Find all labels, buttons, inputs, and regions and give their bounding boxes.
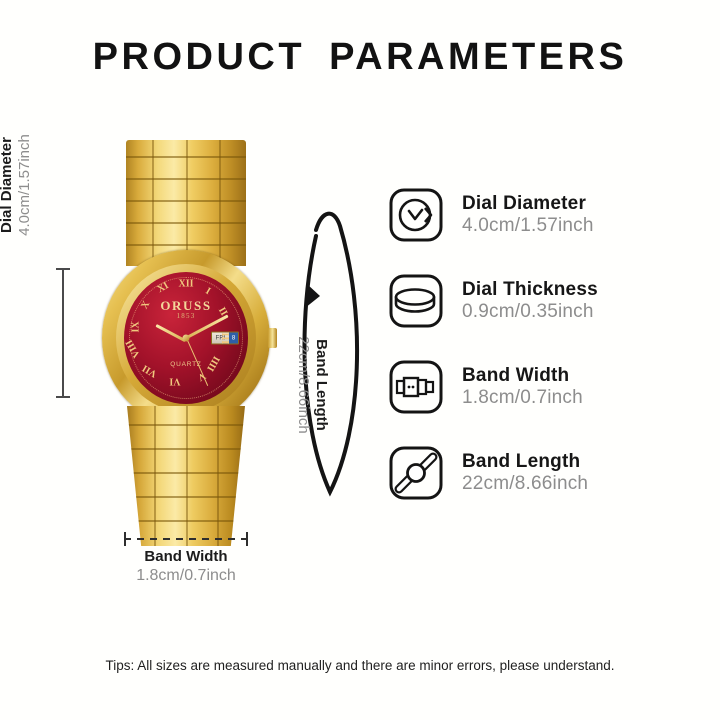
dial-diameter-dimension-value: 4.0cm/1.57inch (16, 110, 34, 260)
spec-value-band-width: 1.8cm/0.7inch (462, 387, 583, 409)
watch-crown (268, 328, 277, 348)
second-hand (186, 338, 208, 386)
dial-numeral: VIII (124, 338, 143, 360)
minute-hand (185, 314, 229, 339)
product-parameters-infographic: PRODUCT PARAMETERS Dial Diameter 4.0cm/1… (0, 0, 720, 720)
watch-product-image: ORUSS 1853 QUARTZ FRI 8 XIIIIIIIIIIIIVVI… (96, 140, 276, 540)
watch-face-icon (388, 187, 444, 243)
band-width-dimension-value: 1.8cm/0.7inch (60, 566, 312, 585)
page-title: PRODUCT PARAMETERS (0, 36, 720, 79)
spec-row-dial-diameter: Dial Diameter 4.0cm/1.57inch (388, 172, 688, 258)
dial-numeral: XII (178, 279, 193, 290)
dial-numeral: X (139, 299, 152, 311)
spec-row-band-length: Band Length 22cm/8.66inch (388, 430, 688, 516)
spec-value-dial-thickness: 0.9cm/0.35inch (462, 301, 598, 323)
disc-thickness-icon (388, 273, 444, 329)
dial-diameter-dimension-label: Dial Diameter 4.0cm/1.57inch (0, 110, 33, 260)
tips-note: Tips: All sizes are measured manually an… (0, 658, 720, 673)
spec-label-band-width: Band Width (462, 365, 583, 387)
spec-label-band-length: Band Length (462, 451, 588, 473)
hands-center-pin (183, 335, 190, 342)
specification-list: Dial Diameter 4.0cm/1.57inch Dial Thickn… (388, 172, 688, 516)
band-width-measure-line (124, 538, 248, 540)
hour-hand (155, 324, 186, 342)
dial-numeral: VI (169, 376, 180, 387)
spec-label-dial-thickness: Dial Thickness (462, 279, 598, 301)
dial-numeral: IIII (204, 354, 221, 373)
date-window-day: FRI (212, 335, 229, 341)
watch-dial: ORUSS 1853 QUARTZ FRI 8 XIIIIIIIIIIIIVVI… (124, 272, 248, 404)
watch-band-upper (126, 140, 246, 266)
dial-movement-text: QUARTZ (124, 361, 248, 368)
dial-numeral: XI (155, 280, 170, 295)
dial-numeral: II (216, 306, 229, 318)
band-length-dimension-label: Band Length 22cm/8.66inch (295, 300, 330, 470)
dial-numeral: V (196, 370, 208, 383)
dial-numeral: IX (130, 321, 141, 332)
spec-row-dial-thickness: Dial Thickness 0.9cm/0.35inch (388, 258, 688, 344)
dial-numeral: I (204, 286, 213, 297)
spec-value-dial-diameter: 4.0cm/1.57inch (462, 215, 594, 237)
spec-value-band-length: 22cm/8.66inch (462, 473, 588, 495)
date-window: FRI 8 (211, 332, 239, 345)
date-window-number: 8 (229, 333, 238, 344)
bracelet-links-lower (127, 406, 245, 546)
dial-brand-name: ORUSS (124, 298, 248, 314)
bracelet-links-upper (126, 140, 246, 266)
dial-numeral: III (219, 333, 230, 345)
watch-case: ORUSS 1853 QUARTZ FRI 8 XIIIIIIIIIIIIVVI… (102, 250, 270, 426)
watch-band-lower (127, 406, 245, 546)
band-width-dimension-label: Band Width 1.8cm/0.7inch (60, 548, 312, 585)
band-length-dimension-title: Band Length (312, 300, 330, 470)
strap-clasp-icon (388, 359, 444, 415)
spec-text-band-width: Band Width 1.8cm/0.7inch (462, 365, 583, 410)
band-length-dimension-value: 22cm/8.66inch (295, 300, 313, 470)
spec-row-band-width: Band Width 1.8cm/0.7inch (388, 344, 688, 430)
dial-brand-year: 1853 (124, 312, 248, 320)
spec-text-band-length: Band Length 22cm/8.66inch (462, 451, 588, 496)
band-width-dimension-title: Band Width (60, 548, 312, 566)
watch-bezel: ORUSS 1853 QUARTZ FRI 8 XIIIIIIIIIIIIVVI… (116, 264, 256, 412)
dial-numeral: VII (140, 362, 159, 379)
spec-text-dial-diameter: Dial Diameter 4.0cm/1.57inch (462, 193, 594, 238)
dial-diameter-dimension-title: Dial Diameter (0, 110, 16, 260)
spec-text-dial-thickness: Dial Thickness 0.9cm/0.35inch (462, 279, 598, 324)
watch-strap-diagonal-icon (388, 445, 444, 501)
spec-label-dial-diameter: Dial Diameter (462, 193, 594, 215)
dial-diameter-measure-line (62, 268, 64, 398)
